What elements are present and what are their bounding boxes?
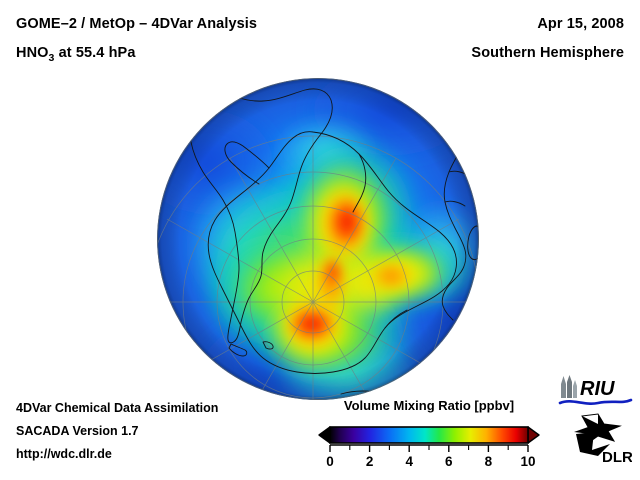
colorbar-tick-label: 4 — [405, 454, 413, 466]
colorbar-extend-low — [319, 427, 330, 443]
colorbar-tick-label: 2 — [366, 454, 374, 466]
footer-line-version: SACADA Version 1.7 — [16, 424, 139, 438]
colorbar-axis — [330, 445, 528, 452]
dlr-wordmark: DLR — [602, 449, 632, 466]
colorbar-tick-label: 10 — [520, 454, 535, 466]
region-label: Southern Hemisphere — [471, 45, 624, 61]
page-title: GOME–2 / MetOp – 4DVar Analysis — [16, 16, 257, 32]
species-level-suffix: at 55.4 hPa — [54, 45, 135, 61]
colorbar-extend-high — [528, 427, 539, 443]
riu-wordmark: RIU — [580, 378, 615, 400]
colorbar: Volume Mixing Ratio [ppbv] 0246810 — [316, 398, 542, 466]
colorbar-title: Volume Mixing Ratio [ppbv] — [316, 398, 542, 413]
riu-tower-icon — [561, 375, 577, 398]
colorbar-tick-label: 8 — [485, 454, 493, 466]
dlr-logo: DLR — [568, 412, 632, 468]
species-level-label: HNO3 at 55.4 hPa — [16, 45, 135, 64]
data-field — [155, 76, 481, 402]
colorbar-gradient — [330, 427, 528, 443]
globe-map — [155, 76, 481, 402]
riu-wave-icon — [560, 400, 631, 404]
footer-line-assimilation: 4DVar Chemical Data Assimilation — [16, 401, 218, 415]
species-formula-prefix: HNO — [16, 45, 49, 61]
figure-canvas: GOME–2 / MetOp – 4DVar Analysis HNO3 at … — [0, 0, 640, 480]
colorbar-tick-label: 6 — [445, 454, 453, 466]
riu-logo: RIU — [556, 374, 634, 408]
colorbar-tick-label: 0 — [326, 454, 334, 466]
date-label: Apr 15, 2008 — [537, 16, 624, 32]
footer-line-url[interactable]: http://wdc.dlr.de — [16, 447, 112, 461]
